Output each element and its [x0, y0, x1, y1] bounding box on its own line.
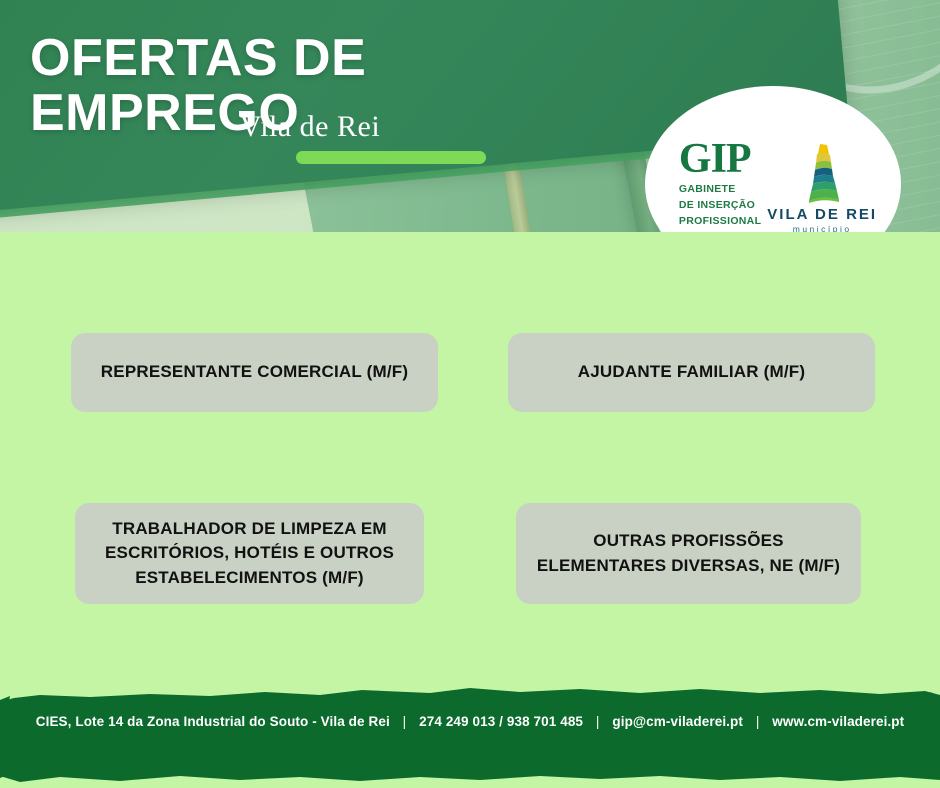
- gip-logo: GIP GABINETE DE INSERÇÃO PROFISSIONAL: [669, 140, 761, 228]
- vila-de-rei-wordmark: VILA DE REI: [767, 206, 877, 223]
- footer-contact-line: CIES, Lote 14 da Zona Industrial do Sout…: [0, 714, 940, 729]
- footer-email[interactable]: gip@cm-viladerei.pt: [612, 714, 743, 729]
- page-subtitle: Vila de Rei: [30, 110, 590, 144]
- job-card[interactable]: REPRESENTANTE COMERCIAL (M/F): [71, 333, 438, 412]
- footer-phones: 274 249 013 / 938 701 485: [419, 714, 583, 729]
- footer-website[interactable]: www.cm-viladerei.pt: [772, 714, 904, 729]
- gip-tagline-line2: DE INSERÇÃO: [679, 199, 755, 212]
- gip-tagline-line1: GABINETE: [679, 183, 736, 196]
- title-accent-bar: [296, 151, 486, 164]
- gip-wordmark: GIP: [679, 140, 751, 180]
- job-card-title: AJUDANTE FAMILIAR (M/F): [578, 360, 805, 385]
- job-offers-list: REPRESENTANTE COMERCIAL (M/F) AJUDANTE F…: [0, 232, 940, 680]
- poster-canvas: OFERTAS DE EMPREGO Vila de Rei GIP GABIN…: [0, 0, 940, 788]
- job-card[interactable]: TRABALHADOR DE LIMPEZA EM ESCRITÓRIOS, H…: [75, 503, 424, 604]
- job-card-title: TRABALHADOR DE LIMPEZA EM ESCRITÓRIOS, H…: [89, 517, 410, 591]
- vila-de-rei-subtitle: município: [793, 224, 852, 232]
- gip-tagline-line3: PROFISSIONAL: [679, 215, 761, 228]
- footer-separator: |: [394, 714, 416, 729]
- footer-address: CIES, Lote 14 da Zona Industrial do Sout…: [36, 714, 390, 729]
- brush-stroke-shape: [0, 676, 940, 788]
- obelisk-monument-icon: [796, 142, 848, 204]
- footer-separator: |: [747, 714, 769, 729]
- job-card[interactable]: OUTRAS PROFISSÕES ELEMENTARES DIVERSAS, …: [516, 503, 861, 604]
- job-card-title: REPRESENTANTE COMERCIAL (M/F): [101, 360, 408, 385]
- job-card[interactable]: AJUDANTE FAMILIAR (M/F): [508, 333, 875, 412]
- vila-de-rei-logo: VILA DE REI município: [767, 134, 877, 232]
- job-card-title: OUTRAS PROFISSÕES ELEMENTARES DIVERSAS, …: [530, 529, 847, 578]
- footer-separator: |: [587, 714, 609, 729]
- footer-bar: CIES, Lote 14 da Zona Industrial do Sout…: [0, 676, 940, 788]
- hero-header: OFERTAS DE EMPREGO Vila de Rei GIP GABIN…: [0, 0, 940, 232]
